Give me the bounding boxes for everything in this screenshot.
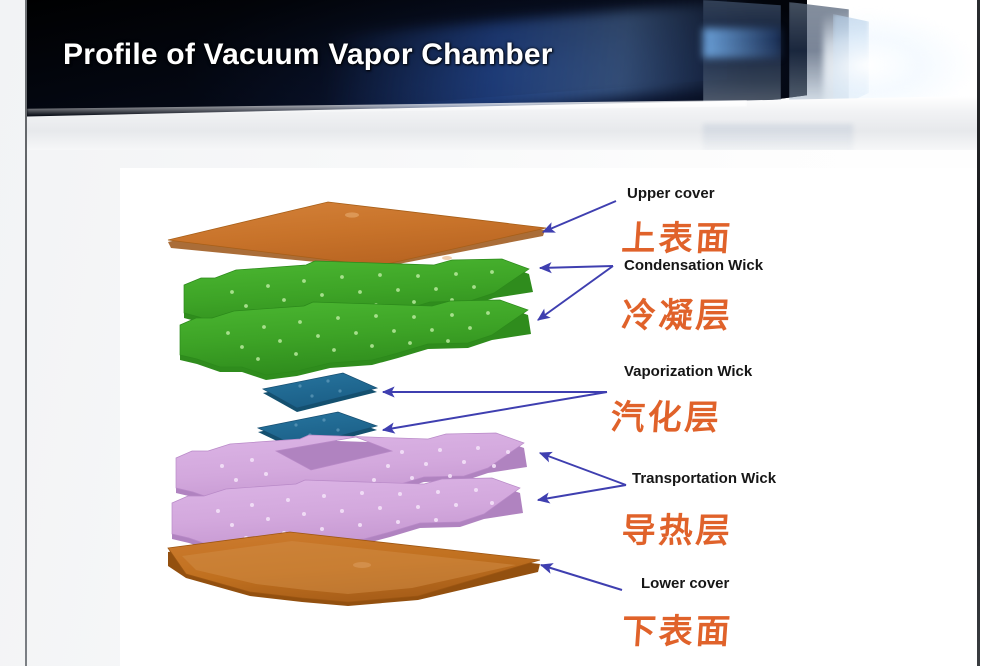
label-lower-cover-cn: 下表面 <box>620 604 734 653</box>
label-vaporization-wick-cn: 汽化层 <box>609 390 723 439</box>
label-condensation-wick-en: Condensation Wick <box>624 257 763 274</box>
glass-panel-near-glow <box>703 28 781 58</box>
label-upper-cover-cn: 上表面 <box>620 211 734 260</box>
label-condensation-wick-cn: 冷凝层 <box>620 288 734 337</box>
right-outer-margin <box>980 0 1000 666</box>
slide-canvas: Profile of Vacuum Vapor Chamber <box>0 0 1000 666</box>
label-lower-cover-en: Lower cover <box>641 575 729 592</box>
label-transportation-wick-cn: 导热层 <box>620 503 734 552</box>
label-transportation-wick-en: Transportation Wick <box>632 470 776 487</box>
glass-panel-reflection <box>703 124 853 150</box>
header-banner: Profile of Vacuum Vapor Chamber <box>27 0 977 150</box>
label-vaporization-wick-en: Vaporization Wick <box>624 363 752 380</box>
label-upper-cover-en: Upper cover <box>627 185 715 202</box>
diagram-card <box>120 168 978 666</box>
page-title: Profile of Vacuum Vapor Chamber <box>63 38 553 72</box>
